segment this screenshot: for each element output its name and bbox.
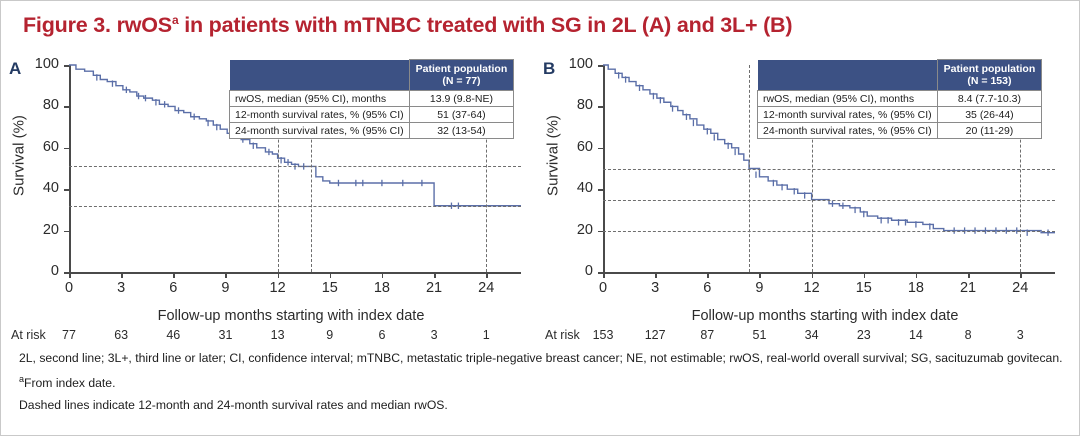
at-risk-count: 8 [946, 328, 990, 342]
x-axis-tick [759, 272, 761, 278]
panel-a-at-risk-label: At risk [11, 328, 46, 342]
x-axis-tick-label: 18 [362, 280, 402, 296]
y-axis-tick [64, 189, 69, 191]
reference-line-horizontal [69, 166, 521, 167]
y-axis-tick-label: 80 [23, 97, 59, 113]
panel-b-at-risk-row: At risk 153127875134231483 [535, 328, 1075, 346]
panel-a-row1-label: 12-month survival rates, % (95% CI) [230, 107, 410, 123]
x-axis-tick [173, 272, 175, 278]
figure-container: Figure 3. rwOSa in patients with mTNBC t… [0, 0, 1080, 436]
footnote-abbreviations: 2L, second line; 3L+, third line or late… [19, 350, 1065, 368]
x-axis-tick [330, 272, 332, 278]
panel-b-table-blank-header [758, 60, 938, 91]
footnote-from-index-date: aFrom index date. [19, 373, 1065, 393]
footnote-a-text: From index date. [24, 376, 115, 390]
y-axis-tick-label: 40 [23, 180, 59, 196]
reference-line-vertical [749, 65, 750, 272]
x-axis-tick-label: 6 [153, 280, 193, 296]
panel-b-row1-label: 12-month survival rates, % (95% CI) [758, 107, 938, 123]
x-axis-tick-label: 0 [49, 280, 89, 296]
at-risk-count: 9 [308, 328, 352, 342]
panel-a-table-body: rwOS, median (95% CI), months 13.9 (9.8-… [230, 91, 514, 139]
y-axis-tick [598, 65, 603, 67]
panel-a-at-risk-row: At risk 77634631139631 [1, 328, 541, 346]
panel-b-row0-label: rwOS, median (95% CI), months [758, 91, 938, 107]
panel-b-table-population-header: Patient population (N = 153) [937, 60, 1042, 91]
panel-a-row2-value: 32 (13-54) [409, 123, 514, 139]
y-axis-tick [598, 106, 603, 108]
table-header-row: Patient population (N = 77) [230, 60, 514, 91]
at-risk-count: 31 [203, 328, 247, 342]
at-risk-count: 51 [737, 328, 781, 342]
x-axis-tick [655, 272, 657, 278]
panel-a-x-axis-title: Follow-up months starting with index dat… [61, 308, 521, 324]
footnote-dashed-lines: Dashed lines indicate 12-month and 24-mo… [19, 397, 1065, 415]
x-axis-tick-label: 24 [1000, 280, 1040, 296]
panel-b-x-axis-title: Follow-up months starting with index dat… [595, 308, 1055, 324]
panel-b-population-line2: (N = 153) [967, 75, 1011, 87]
y-axis-tick [64, 106, 69, 108]
x-axis-tick-label: 12 [792, 280, 832, 296]
table-row: 24-month survival rates, % (95% CI) 32 (… [230, 123, 514, 139]
x-axis-tick [812, 272, 814, 278]
at-risk-count: 63 [99, 328, 143, 342]
x-axis-tick-label: 6 [687, 280, 727, 296]
y-axis-tick-label: 100 [557, 56, 593, 72]
y-axis-tick-label: 20 [23, 222, 59, 238]
reference-line-horizontal [603, 200, 1055, 201]
x-axis-tick-label: 3 [101, 280, 141, 296]
at-risk-count: 3 [998, 328, 1042, 342]
x-axis-tick [69, 272, 71, 278]
y-axis-tick [64, 148, 69, 150]
y-axis-tick-label: 80 [557, 97, 593, 113]
at-risk-count: 14 [894, 328, 938, 342]
x-axis-tick [278, 272, 280, 278]
table-row: 12-month survival rates, % (95% CI) 51 (… [230, 107, 514, 123]
x-axis-tick [225, 272, 227, 278]
x-axis-tick [486, 272, 488, 278]
footnotes: 2L, second line; 3L+, third line or late… [19, 350, 1065, 420]
y-axis-tick-label: 0 [23, 263, 59, 279]
x-axis-tick-label: 24 [466, 280, 506, 296]
y-axis-tick [598, 148, 603, 150]
x-axis-tick-label: 21 [414, 280, 454, 296]
x-axis-tick-label: 21 [948, 280, 988, 296]
x-axis-tick-label: 9 [205, 280, 245, 296]
y-axis-tick [598, 189, 603, 191]
x-axis-tick-label: 0 [583, 280, 623, 296]
panel-a-population-line2: (N = 77) [442, 75, 480, 87]
y-axis-tick-label: 20 [557, 222, 593, 238]
panel-b-table-body: rwOS, median (95% CI), months 8.4 (7.7-1… [758, 91, 1042, 139]
x-axis-tick [121, 272, 123, 278]
y-axis-tick-label: 60 [23, 139, 59, 155]
reference-line-horizontal [603, 169, 1055, 170]
x-axis-tick [707, 272, 709, 278]
at-risk-count: 153 [581, 328, 625, 342]
y-axis-tick [64, 65, 69, 67]
panel-b-at-risk-label: At risk [545, 328, 580, 342]
x-axis-tick [1020, 272, 1022, 278]
table-header-row: Patient population (N = 153) [758, 60, 1042, 91]
panel-a-stats-table: Patient population (N = 77) rwOS, median… [229, 59, 514, 139]
panel-b-population-line1: Patient population [944, 63, 1036, 75]
at-risk-count: 23 [842, 328, 886, 342]
panel-b: B Survival (%) Follow-up months starting… [535, 55, 1075, 345]
table-row: 24-month survival rates, % (95% CI) 20 (… [758, 123, 1042, 139]
x-axis-tick [968, 272, 970, 278]
reference-line-horizontal [603, 231, 1055, 232]
x-axis-tick [864, 272, 866, 278]
x-axis-tick-label: 15 [844, 280, 884, 296]
panel-a: A Survival (%) Follow-up months starting… [1, 55, 541, 345]
at-risk-count: 87 [685, 328, 729, 342]
panel-b-row1-value: 35 (26-44) [937, 107, 1042, 123]
panel-a-row2-label: 24-month survival rates, % (95% CI) [230, 123, 410, 139]
x-axis-tick [916, 272, 918, 278]
panel-b-row2-value: 20 (11-29) [937, 123, 1042, 139]
reference-line-horizontal [69, 206, 521, 207]
at-risk-count: 6 [360, 328, 404, 342]
panel-a-row0-label: rwOS, median (95% CI), months [230, 91, 410, 107]
y-axis-tick-label: 60 [557, 139, 593, 155]
x-axis-tick-label: 12 [258, 280, 298, 296]
y-axis-tick-label: 40 [557, 180, 593, 196]
figure-title-suffix: in patients with mTNBC treated with SG i… [178, 13, 792, 37]
panel-b-row0-value: 8.4 (7.7-10.3) [937, 91, 1042, 107]
table-row: 12-month survival rates, % (95% CI) 35 (… [758, 107, 1042, 123]
at-risk-count: 34 [790, 328, 834, 342]
table-row: rwOS, median (95% CI), months 13.9 (9.8-… [230, 91, 514, 107]
x-axis-tick [382, 272, 384, 278]
y-axis-tick-label: 100 [23, 56, 59, 72]
panel-b-row2-label: 24-month survival rates, % (95% CI) [758, 123, 938, 139]
y-axis-tick [64, 231, 69, 233]
at-risk-count: 3 [412, 328, 456, 342]
y-axis-tick-label: 0 [557, 263, 593, 279]
figure-title: Figure 3. rwOSa in patients with mTNBC t… [23, 13, 1063, 38]
panel-a-table-population-header: Patient population (N = 77) [409, 60, 514, 91]
panel-a-row1-value: 51 (37-64) [409, 107, 514, 123]
panel-b-x-axis-line [603, 272, 1055, 274]
at-risk-count: 1 [464, 328, 508, 342]
x-axis-tick-label: 18 [896, 280, 936, 296]
panel-a-table-blank-header [230, 60, 410, 91]
x-axis-tick-label: 3 [635, 280, 675, 296]
at-risk-count: 77 [47, 328, 91, 342]
at-risk-count: 13 [256, 328, 300, 342]
at-risk-count: 127 [633, 328, 677, 342]
at-risk-count: 46 [151, 328, 195, 342]
panel-a-row0-value: 13.9 (9.8-NE) [409, 91, 514, 107]
panel-a-x-axis-line [69, 272, 521, 274]
x-axis-tick-label: 15 [310, 280, 350, 296]
x-axis-tick [603, 272, 605, 278]
panel-a-population-line1: Patient population [416, 63, 508, 75]
table-row: rwOS, median (95% CI), months 8.4 (7.7-1… [758, 91, 1042, 107]
figure-title-prefix: Figure 3. rwOS [23, 13, 172, 37]
panel-b-stats-table: Patient population (N = 153) rwOS, media… [757, 59, 1042, 139]
x-axis-tick-label: 9 [739, 280, 779, 296]
x-axis-tick [434, 272, 436, 278]
